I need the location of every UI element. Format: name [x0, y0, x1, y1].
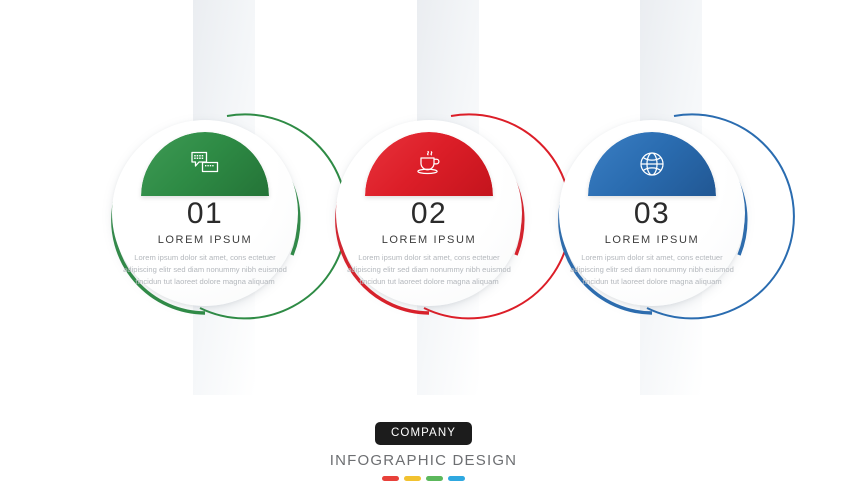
step-1-number: 01: [112, 198, 298, 230]
step-3-body: Lorem ipsum dolor sit amet, cons ectetue…: [559, 252, 745, 289]
color-dash-2: [404, 476, 421, 481]
infographic-step-2[interactable]: 02 LOREM IPSUM Lorem ipsum dolor sit ame…: [328, 112, 544, 328]
color-dash-4: [448, 476, 465, 481]
company-badge: COMPANY: [375, 422, 472, 445]
chat-bubbles-icon: [141, 150, 269, 176]
footer: COMPANY INFOGRAPHIC DESIGN: [0, 422, 847, 481]
step-2-body: Lorem ipsum dolor sit amet, cons ectetue…: [336, 252, 522, 289]
step-1-content: 01 LOREM IPSUM Lorem ipsum dolor sit ame…: [112, 198, 298, 288]
step-2-number: 02: [336, 198, 522, 230]
infographic-step-1[interactable]: 01 LOREM IPSUM Lorem ipsum dolor sit ame…: [104, 112, 320, 328]
infographic-step-3[interactable]: 03 LOREM IPSUM Lorem ipsum dolor sit ame…: [551, 112, 767, 328]
footer-tagline: INFOGRAPHIC DESIGN: [0, 452, 847, 469]
color-dash-1: [382, 476, 399, 481]
coffee-cup-icon: [365, 150, 493, 177]
step-1-subtitle: LOREM IPSUM: [112, 234, 298, 246]
globe-icon: [588, 150, 716, 178]
step-3-subtitle: LOREM IPSUM: [559, 234, 745, 246]
step-2-subtitle: LOREM IPSUM: [336, 234, 522, 246]
infographic-canvas: 01 LOREM IPSUM Lorem ipsum dolor sit ame…: [0, 0, 847, 500]
footer-color-dashes: [0, 476, 847, 481]
step-3-number: 03: [559, 198, 745, 230]
step-3-content: 03 LOREM IPSUM Lorem ipsum dolor sit ame…: [559, 198, 745, 288]
step-1-body: Lorem ipsum dolor sit amet, cons ectetue…: [112, 252, 298, 289]
step-2-content: 02 LOREM IPSUM Lorem ipsum dolor sit ame…: [336, 198, 522, 288]
color-dash-3: [426, 476, 443, 481]
